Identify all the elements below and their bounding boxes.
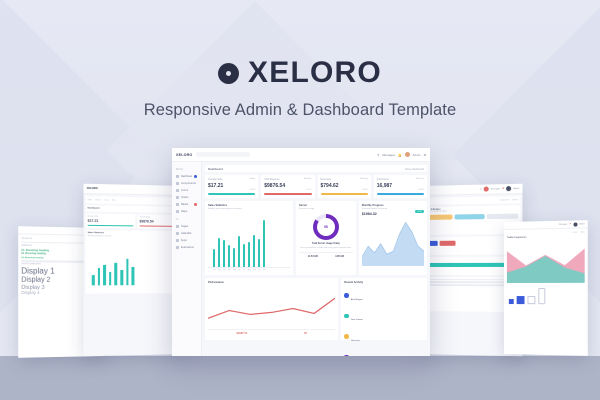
calendar-icon [176,232,179,235]
donut-wrap: 95 [299,214,353,240]
stat-title: Expenses [321,178,332,181]
dashboard-icon [176,175,179,178]
sidebar-item-label: Apps [181,239,197,242]
main-topbar-actions[interactable]: ⚲ Messages 🔔 Admin ⚙ [377,152,426,157]
avatar [344,314,349,319]
line-stat-accounts: 87 [304,332,307,335]
bar [223,240,225,267]
search-icon[interactable]: ⚲ [480,188,481,190]
area-chart-card: Monthly Progress Revenue growth this per… [359,201,427,275]
tile-small [509,299,514,304]
x-tick-label: Sep [253,269,255,271]
breadcrumb-link-components[interactable]: Components [500,199,510,201]
user-label[interactable]: Admin [413,153,421,157]
bar [238,236,240,267]
sidebar-section-title: UI [176,218,199,221]
gear-icon[interactable]: ⚙ [423,153,426,157]
list-item-name: Chris Lee [351,340,360,342]
stat-value: $17.21 [208,183,255,189]
list-item[interactable]: Jane Cooper [344,307,424,325]
activity-list-card: Recent Activity Alex Morgan Jane Cooper [341,278,427,340]
stat-title: Average Sale [208,178,222,181]
left-tab-1[interactable]: Reports [95,199,101,201]
x-tick-label: Apr [228,269,230,271]
sidebar-item-tables[interactable]: Tables [174,201,199,208]
search-input[interactable] [196,152,250,158]
x-tick-label: Oct [258,269,260,271]
donut-title: Server [299,204,353,207]
far-right-breadcrumb[interactable]: Charts Area [507,232,585,235]
bar [258,239,260,267]
area-badge: +12% [415,210,424,213]
tile-large [517,296,525,304]
bell-icon[interactable]: ⚑ [502,187,504,190]
left-stat-value: $17.21 [88,219,134,224]
stat-card-expenses: Expenses Monthly $794.62 +1.8% [318,175,371,198]
bar [248,242,250,267]
bar-chart-plot [208,215,290,268]
stat-value: 16,987 [377,183,424,189]
widget-tiles [507,288,585,304]
stat-bar [321,193,368,195]
bar [228,245,230,267]
chart-title: Sales Statistics [208,204,290,207]
bar [243,244,245,267]
donut-value: 95 [313,225,339,229]
main-body: MAIN Dashboard Components Forms [172,162,430,356]
apps-icon [176,239,179,242]
stat-card-row: Average Sale Today $17.21 +4.5% Total Re… [205,175,427,198]
line-footer: $1687.51 87 [208,329,335,335]
danger-badge [440,240,456,245]
light-button[interactable] [487,214,518,220]
list-item[interactable]: Dana White [344,348,424,356]
forms-icon [176,189,179,192]
avatar[interactable] [506,186,511,191]
breadcrumb-links[interactable]: Home Dashboard [405,167,424,171]
tables-icon [176,203,179,206]
components-icon [176,182,179,185]
stat-bar [377,193,424,195]
sidebar-item-label: Dashboard [181,175,192,178]
stat-change: +1.8% [361,189,367,191]
page-title: Dashboard [208,167,223,171]
bottom-card-row: Performance $1687.51 87 Recent Activity [205,278,427,340]
stat-period: Monthly [360,178,368,180]
line-stat-revenue: $1687.51 [236,332,247,335]
search-icon[interactable]: ⚲ [377,153,379,157]
brand-name: XELORO [248,58,382,88]
breadcrumb: Dashboard Home Dashboard [205,165,427,172]
stat-card-total-users: Total Users All Time 16,987 +9.2% [374,175,427,198]
sidebar-item-components[interactable]: Components [174,180,199,187]
bell-icon[interactable]: ⚑ [569,223,571,226]
bar-chart-x-axis: JanFebMarAprMayJunJulAugSepOctNov [208,269,290,271]
status-badge [194,175,197,178]
pages-icon [176,225,179,228]
avatar[interactable] [573,222,577,226]
middle-card-row: Sales Statistics Monthly sales performan… [205,201,427,275]
tile-outline [527,296,535,304]
main-topbar: XELORO ⚲ Messages 🔔 Admin ⚙ [172,148,430,162]
user-label[interactable]: Admin [514,187,520,189]
stat-card-total-revenue: Total Revenue Monthly $9876.54 -2.1% [261,175,314,198]
charts-icon [176,196,179,199]
donut-footer: 11.53 GB 4.85 GB [299,252,353,258]
sidebar-item-maps[interactable]: Maps [174,208,199,215]
sidebar-item-forms[interactable]: Forms [174,187,199,194]
avatar [344,293,349,298]
stat-period: All Time [416,178,424,180]
sidebar-item-extensions[interactable]: Extensions [174,244,199,251]
progress-fill [422,263,511,267]
disc-logo-icon [218,63,239,84]
left-breadcrumb-title: Dashboard [88,207,184,211]
brand-lockup: XELORO [0,58,600,88]
donut-used: 11.53 GB [308,255,318,258]
bar [218,238,220,267]
maps-icon [176,210,179,213]
far-right-body: Charts Area Traffic Comparison [504,228,588,307]
sidebar-item-label: Calendar [181,232,197,235]
stat-value: $9876.54 [264,183,311,189]
header: XELORO Responsive Admin & Dashboard Temp… [0,58,600,120]
area-chart-plot [362,218,424,266]
left-tabs[interactable]: Home Reports Users Files [86,196,186,204]
stat-period: Today [249,178,255,180]
sidebar-item-label: Maps [181,210,197,213]
notification-badge [484,186,489,191]
line-title: Performance [208,281,335,284]
x-tick-label: Jun [238,269,240,271]
extensions-icon [176,246,179,249]
sidebar-item-label: Pages [181,225,197,228]
x-tick-label: Jan [213,269,215,271]
left-stat-bar [88,225,134,227]
button-row[interactable] [422,214,518,220]
breadcrumb-link-area[interactable]: Area [581,232,585,234]
list-item[interactable]: Alex Morgan [344,287,424,305]
area-title: Monthly Progress [362,204,424,207]
right-topbar-actions[interactable]: ⚲ Messages ⚑ Admin [480,186,519,192]
left-tab-3[interactable]: Files [112,199,116,201]
left-tab-2[interactable]: Users [104,199,109,201]
breadcrumb-link-charts[interactable]: Charts [572,232,577,234]
left-brand: XELORO [87,187,98,190]
left-stat-row: Average Sale $17.21 Total Revenue $9876.… [86,213,186,231]
bar [253,235,255,267]
list-item-name: Jane Cooper [351,319,363,321]
x-tick-label: Feb [218,269,220,271]
list-item[interactable]: Chris Lee [344,328,424,346]
status-badge [194,203,197,206]
list-title: Recent Activity [344,281,424,284]
right-breadcrumb[interactable]: Components Buttons [420,196,520,204]
tile-tall [538,288,545,304]
sidebar-item-label: Tables [181,203,192,206]
left-tab-0[interactable]: Home [88,199,93,201]
messages-label[interactable]: Messages [382,153,395,157]
bar-chart-card: Sales Statistics Monthly sales performan… [205,201,293,275]
donut-subtitle: Resource usage [299,208,353,210]
breadcrumb-link-dashboard[interactable]: Dashboard [412,168,424,171]
breadcrumb-link-home[interactable]: Home [405,168,411,171]
main-brand: XELORO [176,153,192,157]
far-right-topbar-actions[interactable]: Messages ⚑ Admin [559,222,585,227]
left-stat-card: Average Sale $17.21 [86,213,136,229]
bell-icon[interactable]: 🔔 [398,153,401,157]
x-tick-label: Mar [223,269,225,271]
user-label[interactable]: Admin [579,223,584,225]
bar [213,249,215,267]
stat-change: +4.5% [249,189,255,191]
sidebar-item-pages[interactable]: Pages [174,223,199,230]
sidebar-section-title: MAIN [176,168,199,171]
avatar [344,355,349,356]
stat-bar [208,193,255,195]
messages-label[interactable]: Messages [491,188,500,190]
sidebar-item-label: Forms [181,189,197,192]
bar [263,220,265,267]
messages-label[interactable]: Messages [559,223,567,225]
screenshot-charts-page[interactable]: Messages ⚑ Admin Charts Area Traffic Com… [504,220,588,356]
stat-bar [264,193,311,195]
left-breadcrumb: Dashboard [86,205,186,213]
section-subtitle: Use contextual classes for styling [422,209,518,212]
tagline: Responsive Admin & Dashboard Template [0,101,600,120]
donut-chart-card: Server Resource usage 95 Total Server Us… [296,201,356,275]
stat-period: Monthly [304,178,312,180]
sidebar-item-label: Extensions [181,246,197,249]
chart-subtitle: Monthly sales performance overview [208,208,290,210]
avatar[interactable] [405,152,410,157]
main-content: Dashboard Home Dashboard Average Sale To… [202,162,430,356]
main-sidebar[interactable]: MAIN Dashboard Components Forms [172,162,202,356]
avatar [344,334,349,339]
bar [233,248,235,268]
promo-banner: XELORO Responsive Admin & Dashboard Temp… [0,0,600,400]
sidebar-item-label: Charts [181,196,197,199]
donut-chart: 95 [313,214,339,240]
sidebar-item-label: Components [181,182,197,185]
donut-free: 4.85 GB [335,255,344,258]
donut-caption: Total Server Usage Today [299,243,353,245]
x-tick-label: Nov [263,269,265,271]
screenshot-main-dashboard[interactable]: XELORO ⚲ Messages 🔔 Admin ⚙ MAIN [172,148,430,356]
stat-change: -2.1% [306,189,312,191]
left-bar-chart-card: Sales Statistics Monthly performance ove… [86,230,186,294]
breadcrumb-link-buttons[interactable]: Buttons [512,199,518,201]
x-tick-label: May [233,269,235,271]
left-chart-subtitle: Monthly performance overview [88,235,184,238]
sidebar-item-charts[interactable]: Charts [174,194,199,201]
sidebar-item-apps[interactable]: Apps [174,237,199,244]
donut-description: Server performance is stable and running… [299,247,353,250]
list-item-name: Alex Morgan [351,299,363,301]
line-chart-plot [208,287,335,327]
x-tick-label: Jul [243,269,245,271]
info-button[interactable] [454,214,485,219]
left-bars [88,240,184,285]
sidebar-item-dashboard[interactable]: Dashboard [174,173,199,180]
far-right-area-chart [507,238,585,283]
stat-title: Total Revenue [264,178,279,181]
stat-title: Total Users [377,178,389,181]
sidebar-item-calendar[interactable]: Calendar [174,230,199,237]
stat-value: $794.62 [321,183,368,189]
line-chart-card: Performance $1687.51 87 [205,278,338,340]
stat-card-average-sale: Average Sale Today $17.21 +4.5% [205,175,258,198]
x-tick-label: Aug [248,269,250,271]
stat-change: +9.2% [418,189,424,191]
